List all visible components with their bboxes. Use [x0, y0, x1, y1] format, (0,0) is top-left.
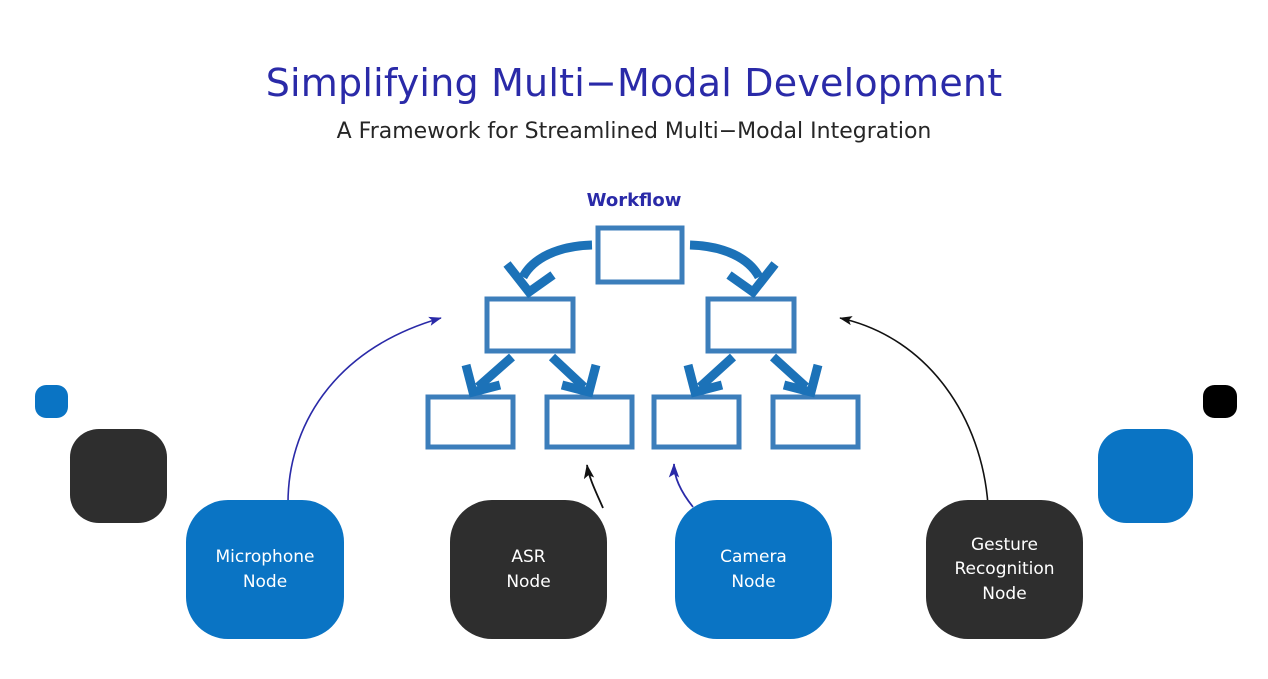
connector-camera-to-workflow [674, 464, 693, 507]
arrow-root-to-mid-left [523, 245, 592, 277]
workflow-box-leaf-1[interactable] [428, 397, 513, 447]
arrow-midleft-to-leaf1 [478, 357, 512, 387]
page-title: Simplifying Multi−Modal Development [0, 61, 1268, 105]
node-microphone-label: Microphone Node [216, 545, 315, 594]
node-microphone[interactable]: Microphone Node [186, 500, 344, 639]
arrowhead-leaf1 [466, 365, 500, 392]
arrowhead-leaf4 [784, 365, 818, 392]
node-gesture-line1: Gesture [954, 533, 1054, 558]
arrow-midright-to-leaf3 [700, 357, 733, 387]
node-asr-line2: Node [506, 570, 550, 595]
decoration-square-right-large [1098, 429, 1193, 523]
arrowhead-mid-left [507, 264, 553, 292]
node-gesture-line3: Node [954, 582, 1054, 607]
node-gesture-recognition-label: Gesture Recognition Node [954, 533, 1054, 607]
node-camera-line2: Node [720, 570, 787, 595]
node-asr-line1: ASR [506, 545, 550, 570]
workflow-box-leaf-3[interactable] [654, 397, 739, 447]
decoration-square-left-large [70, 429, 167, 523]
workflow-box-mid-l[interactable] [487, 299, 573, 351]
node-gesture-line2: Recognition [954, 557, 1054, 582]
workflow-box-leaf-4[interactable] [773, 397, 858, 447]
node-microphone-line2: Node [216, 570, 315, 595]
arrow-root-to-mid-right [690, 245, 759, 277]
node-gesture-recognition[interactable]: Gesture Recognition Node [926, 500, 1083, 639]
arrow-midleft-to-leaf2 [552, 357, 584, 387]
arrowhead-leaf2 [562, 365, 596, 392]
decoration-square-left-small [35, 385, 68, 418]
workflow-box-leaf-2[interactable] [547, 397, 632, 447]
node-asr[interactable]: ASR Node [450, 500, 607, 639]
workflow-label: Workflow [0, 190, 1268, 211]
workflow-box-mid-r[interactable] [708, 299, 794, 351]
connector-gesture-to-workflow [840, 318, 988, 505]
page-subtitle: A Framework for Streamlined Multi−Modal … [0, 119, 1268, 144]
connector-microphone-to-workflow [288, 318, 441, 503]
arrowhead-leaf3 [688, 365, 722, 392]
node-camera[interactable]: Camera Node [675, 500, 832, 639]
node-camera-line1: Camera [720, 545, 787, 570]
node-microphone-line1: Microphone [216, 545, 315, 570]
diagram-canvas: Simplifying Multi−Modal Development A Fr… [0, 0, 1268, 679]
connector-asr-to-workflow [587, 465, 603, 508]
decoration-square-right-small [1203, 385, 1237, 418]
arrowhead-mid-right [729, 264, 775, 292]
arrow-midright-to-leaf4 [773, 357, 806, 387]
node-camera-label: Camera Node [720, 545, 787, 594]
workflow-box-root[interactable] [598, 228, 682, 282]
node-asr-label: ASR Node [506, 545, 550, 594]
